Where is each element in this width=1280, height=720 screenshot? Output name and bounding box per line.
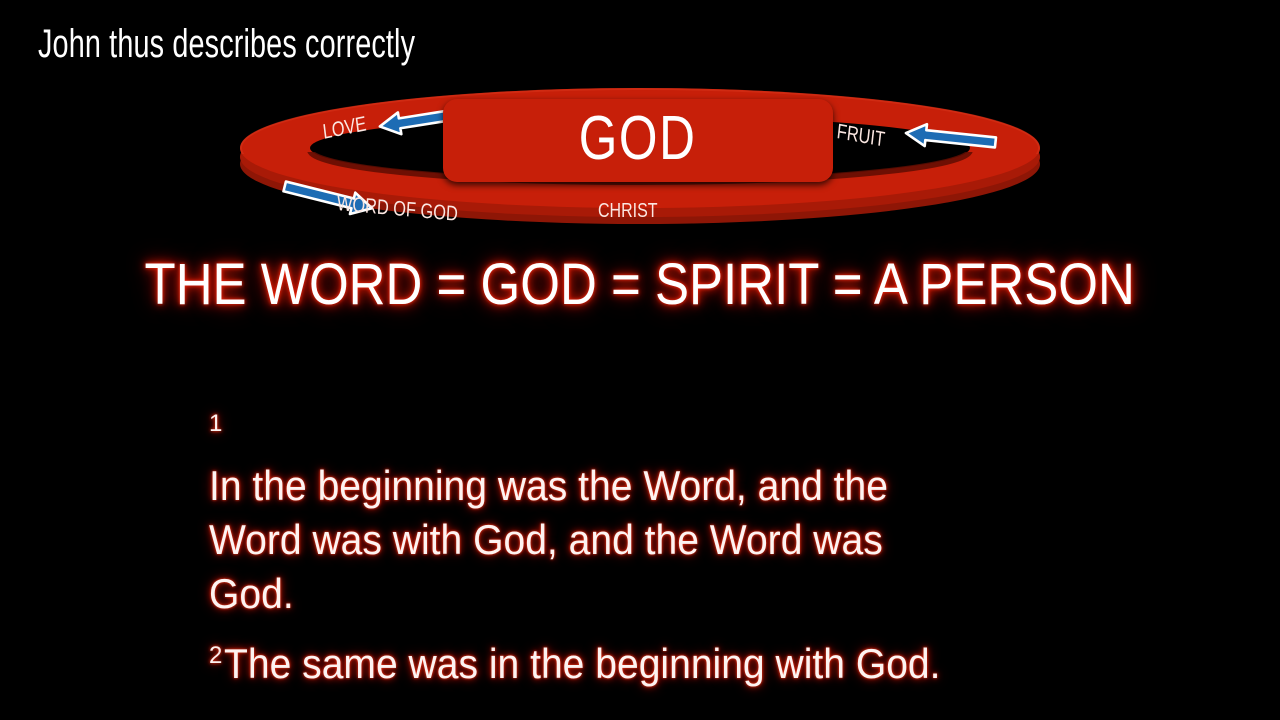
- page-title: John thus describes correctly: [38, 20, 415, 68]
- headline-text: THE WORD = GOD = SPIRIT = A PERSON: [145, 254, 1135, 316]
- scripture-block: 1In the beginning was the Word, and the …: [209, 405, 1019, 691]
- verse-line: 2The same was in the beginning with God.: [209, 637, 1019, 691]
- verse-line: 1In the beginning was the Word, and the …: [209, 405, 1019, 621]
- ring-label-christ: CHRIST: [598, 201, 658, 222]
- verse-text: In the beginning was the Word, and the W…: [209, 459, 962, 621]
- god-christ-ring-diagram: LOVE FRUIT WORD OF GOD CHRIST GOD: [230, 92, 1050, 237]
- verse-number: 1: [209, 410, 222, 437]
- verse-text: The same was in the beginning with God.: [224, 637, 941, 691]
- headline: THE WORD = GOD = SPIRIT = A PERSON: [0, 254, 1280, 316]
- god-box: GOD: [443, 99, 833, 182]
- verse-number: 2: [209, 642, 222, 669]
- god-box-label: GOD: [579, 108, 697, 174]
